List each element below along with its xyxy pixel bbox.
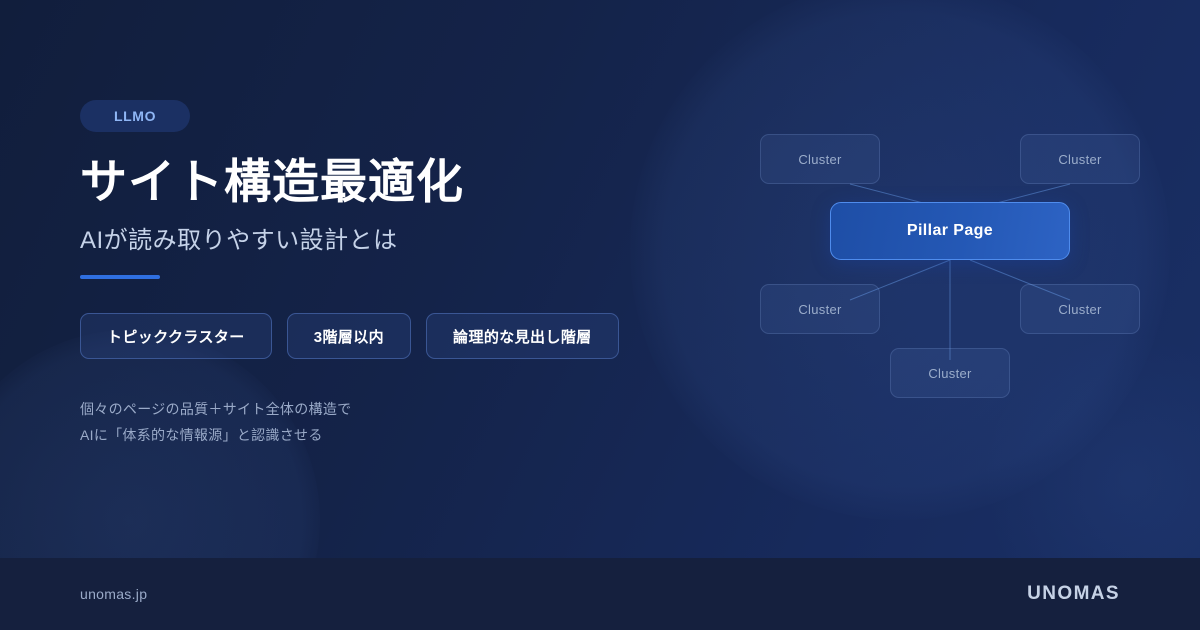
cluster-node-bottom-center: Cluster [890, 348, 1010, 398]
keyword-chip-1[interactable]: トピッククラスター [80, 313, 272, 359]
page-title: サイト構造最適化 [80, 156, 720, 208]
page-subtitle: AIが読み取りやすい設計とは [80, 227, 720, 256]
cluster-node-top-left: Cluster [760, 134, 880, 184]
cluster-node-label: Cluster [1058, 152, 1101, 167]
cluster-node-label: Cluster [928, 366, 971, 381]
hero-banner: LLMO サイト構造最適化 AIが読み取りやすい設計とは トピッククラスター 3… [0, 0, 1200, 630]
footer-site-url: unomas.jp [80, 586, 147, 602]
keyword-chip-3[interactable]: 論理的な見出し階層 [426, 313, 619, 359]
keyword-chip-row: トピッククラスター 3階層以内 論理的な見出し階層 [80, 313, 720, 359]
cluster-node-top-right: Cluster [1020, 134, 1140, 184]
keyword-chip-2[interactable]: 3階層以内 [287, 313, 411, 359]
cluster-node-bottom-right: Cluster [1020, 284, 1140, 334]
cluster-node-bottom-left: Cluster [760, 284, 880, 334]
footer-bar: unomas.jp UNOMAS [0, 558, 1200, 630]
description-line-2: AIに「体系的な情報源」と認識させる [80, 423, 720, 449]
accent-divider [80, 275, 160, 279]
cluster-node-label: Cluster [798, 302, 841, 317]
pillar-page-label: Pillar Page [907, 222, 993, 240]
cluster-node-label: Cluster [798, 152, 841, 167]
category-badge: LLMO [80, 100, 190, 132]
topic-cluster-diagram: Cluster Cluster Cluster Cluster Cluster … [740, 110, 1180, 430]
footer-brand-logo: UNOMAS [1027, 583, 1120, 605]
description-text: 個々のページの品質＋サイト全体の構造で AIに「体系的な情報源」と認識させる [80, 397, 720, 449]
pillar-page-node: Pillar Page [830, 202, 1070, 260]
cluster-node-label: Cluster [1058, 302, 1101, 317]
description-line-1: 個々のページの品質＋サイト全体の構造で [80, 397, 720, 423]
hero-content: LLMO サイト構造最適化 AIが読み取りやすい設計とは トピッククラスター 3… [80, 100, 720, 449]
